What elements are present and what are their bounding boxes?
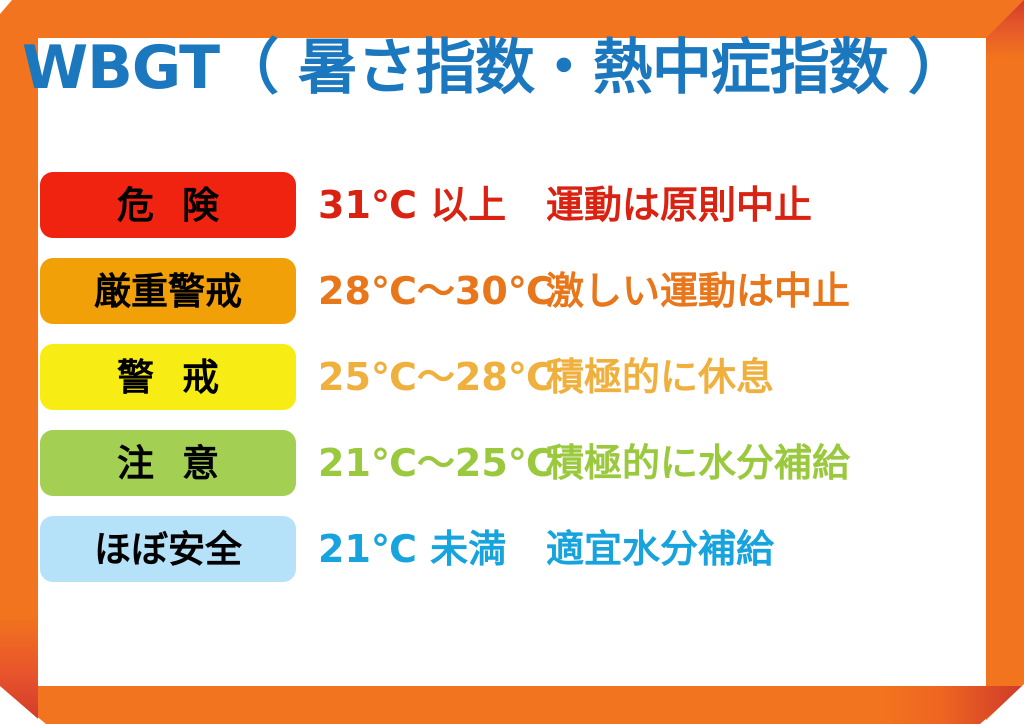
level-badge-danger: 危険 <box>40 172 296 238</box>
level-action-caution: 積極的に水分補給 <box>544 444 940 482</box>
page-title: WBGT（ 暑さ指数・熱中症指数 ） <box>22 38 934 98</box>
level-temperature-danger: 31℃ 以上 <box>296 186 544 224</box>
wbgt-poster: WBGT（ 暑さ指数・熱中症指数 ） 危険 31℃ 以上 運動は原則中止 厳重警… <box>0 0 1024 724</box>
level-action-warning: 積極的に休息 <box>544 358 940 396</box>
level-temperature-warning: 25℃～28℃ <box>296 358 544 396</box>
level-row-danger: 危険 31℃ 以上 運動は原則中止 <box>40 162 940 248</box>
level-temperature-severe-caution: 28℃～30℃ <box>296 272 544 310</box>
level-row-almost-safe: ほぼ安全 21℃ 未満 適宜水分補給 <box>40 506 940 592</box>
level-action-severe-caution: 激しい運動は中止 <box>544 272 940 310</box>
level-list: 危険 31℃ 以上 運動は原則中止 厳重警戒 28℃～30℃ 激しい運動は中止 … <box>40 162 940 592</box>
level-temperature-caution: 21℃～25℃ <box>296 444 544 482</box>
level-temperature-almost-safe: 21℃ 未満 <box>296 530 544 568</box>
level-row-caution: 注意 21℃～25℃ 積極的に水分補給 <box>40 420 940 506</box>
level-badge-warning: 警戒 <box>40 344 296 410</box>
frame-left-bar <box>0 0 38 724</box>
level-badge-almost-safe: ほぼ安全 <box>40 516 296 582</box>
frame-right-bar <box>986 0 1024 724</box>
level-badge-caution: 注意 <box>40 430 296 496</box>
level-row-severe-caution: 厳重警戒 28℃～30℃ 激しい運動は中止 <box>40 248 940 334</box>
frame-bottom-bar <box>0 686 1024 724</box>
level-action-almost-safe: 適宜水分補給 <box>544 530 940 568</box>
level-badge-severe-caution: 厳重警戒 <box>40 258 296 324</box>
level-action-danger: 運動は原則中止 <box>544 186 940 224</box>
level-row-warning: 警戒 25℃～28℃ 積極的に休息 <box>40 334 940 420</box>
